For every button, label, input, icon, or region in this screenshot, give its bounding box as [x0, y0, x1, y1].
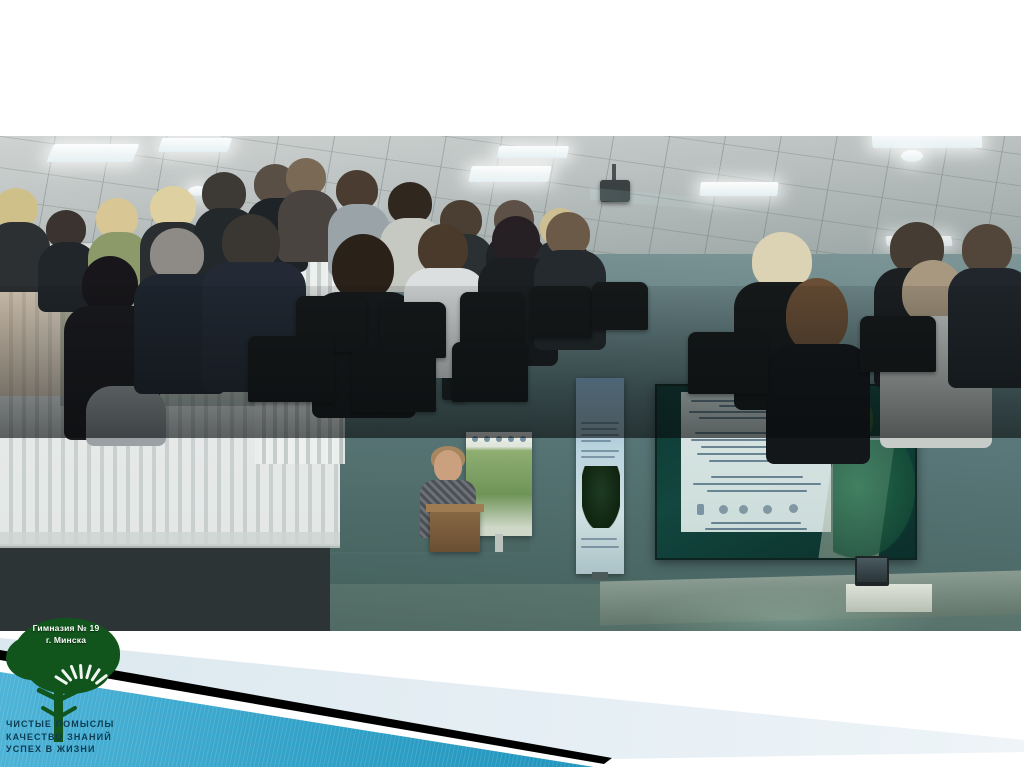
podium-top [426, 504, 484, 512]
ceiling-light [699, 182, 778, 196]
footer-decoration [0, 612, 1024, 767]
banner-stand [592, 572, 608, 580]
motto-line-3: УСПЕХ В ЖИЗНИ [6, 743, 124, 756]
conference-photo [0, 136, 1021, 631]
school-name-badge: Гимназия № 19 г. Минска [18, 622, 114, 654]
side-table [846, 584, 932, 612]
school-name-line2: г. Минска [18, 634, 114, 646]
window-sill [0, 532, 340, 548]
school-logo: Гимназия № 19 г. Минска ЧИСТЫЕ ПОМЫСЛЫ К… [6, 614, 126, 764]
presentation-slide: Гимназия № 19 г. Минска ЧИСТЫЕ ПОМЫСЛЫ К… [0, 0, 1024, 767]
school-name-line1: Гимназия № 19 [18, 622, 114, 634]
motto-line-1: ЧИСТЫЕ ПОМЫСЛЫ [6, 718, 124, 731]
presenter-head [434, 450, 462, 482]
ceiling-light [871, 136, 982, 148]
audience-shadow [0, 286, 1021, 438]
school-motto: ЧИСТЫЕ ПОМЫСЛЫ КАЧЕСТВО ЗНАНИЙ УСПЕХ В Ж… [6, 718, 124, 756]
ceiling-light [158, 138, 233, 152]
poster-stand [495, 534, 503, 552]
ceiling-light [468, 166, 551, 182]
ceiling-light [497, 146, 569, 158]
podium [430, 508, 480, 552]
laptop-screen [857, 558, 887, 582]
white-sprig-icon [62, 650, 102, 680]
banner-tree-graphic [582, 466, 620, 528]
ceiling-light [46, 144, 139, 162]
recessed-downlight [901, 150, 923, 162]
motto-line-2: КАЧЕСТВО ЗНАНИЙ [6, 731, 124, 744]
